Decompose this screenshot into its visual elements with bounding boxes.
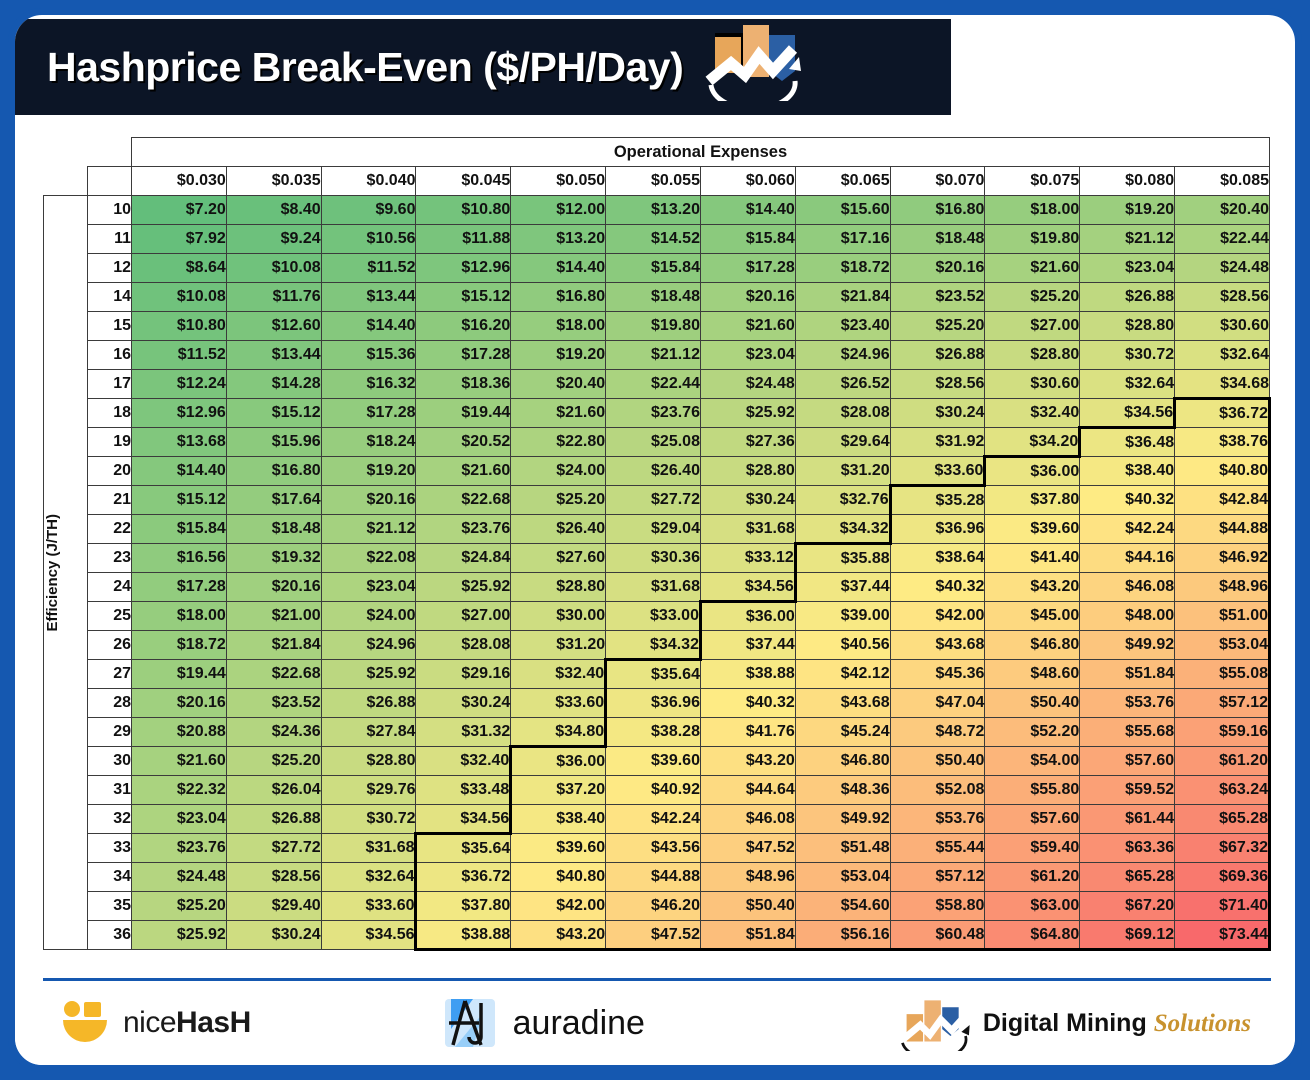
heatmap-cell: $34.80 xyxy=(511,718,606,747)
row-header-efficiency: 26 xyxy=(88,631,132,660)
heatmap-cell: $34.32 xyxy=(606,631,701,660)
heatmap-cell: $47.04 xyxy=(890,689,985,718)
heatmap-cell: $45.00 xyxy=(985,602,1080,631)
heatmap-cell: $23.04 xyxy=(321,573,416,602)
heatmap-cell: $32.40 xyxy=(985,399,1080,428)
heatmap-cell: $8.64 xyxy=(132,254,227,283)
table-row: 35$25.20$29.40$33.60$37.80$42.00$46.20$5… xyxy=(44,892,1270,921)
heatmap-cell: $52.08 xyxy=(890,776,985,805)
heatmap-cell: $71.40 xyxy=(1175,892,1270,921)
heatmap-cell: $54.60 xyxy=(795,892,890,921)
heatmap-cell: $30.60 xyxy=(985,370,1080,399)
heatmap-cell: $44.88 xyxy=(1175,515,1270,544)
heatmap-cell: $21.84 xyxy=(226,631,321,660)
heatmap-cell: $23.52 xyxy=(890,283,985,312)
heatmap-cell: $19.20 xyxy=(511,341,606,370)
heatmap-cell: $36.00 xyxy=(511,747,606,776)
heatmap-cell: $67.32 xyxy=(1175,834,1270,863)
heatmap-cell: $30.00 xyxy=(511,602,606,631)
heatmap-cell: $43.68 xyxy=(890,631,985,660)
heatmap-cell: $46.08 xyxy=(1080,573,1175,602)
heatmap-cell: $32.64 xyxy=(1175,341,1270,370)
title-bar: Hashprice Break-Even ($/PH/Day) xyxy=(8,19,951,115)
heatmap-cell: $31.68 xyxy=(321,834,416,863)
heatmap-cell: $25.92 xyxy=(416,573,511,602)
heatmap-cell: $56.16 xyxy=(795,921,890,950)
heatmap-cell: $24.96 xyxy=(795,341,890,370)
heatmap-cell: $48.60 xyxy=(985,660,1080,689)
heatmap-cell: $16.80 xyxy=(890,196,985,225)
heatmap-cell: $33.00 xyxy=(606,602,701,631)
heatmap-cell: $20.16 xyxy=(700,283,795,312)
heatmap-cell: $28.80 xyxy=(321,747,416,776)
heatmap-cell: $53.76 xyxy=(890,805,985,834)
heatmap-cell: $33.60 xyxy=(890,457,985,486)
nicehash-logo[interactable]: niceHasH xyxy=(59,1000,251,1046)
heatmap-cell: $28.56 xyxy=(1175,283,1270,312)
heatmap-cell: $36.96 xyxy=(890,515,985,544)
heatmap-cell: $20.16 xyxy=(132,689,227,718)
heatmap-cell: $18.48 xyxy=(606,283,701,312)
heatmap-cell: $43.20 xyxy=(985,573,1080,602)
heatmap-cell: $7.20 xyxy=(132,196,227,225)
row-header-efficiency: 20 xyxy=(88,457,132,486)
heatmap-cell: $21.60 xyxy=(132,747,227,776)
row-header-efficiency: 35 xyxy=(88,892,132,921)
heatmap-cell: $12.24 xyxy=(132,370,227,399)
heatmap-cell: $22.08 xyxy=(321,544,416,573)
heatmap-cell: $51.48 xyxy=(795,834,890,863)
heatmap-cell: $24.36 xyxy=(226,718,321,747)
heatmap-cell: $27.00 xyxy=(416,602,511,631)
row-header-efficiency: 25 xyxy=(88,602,132,631)
heatmap-cell: $31.68 xyxy=(606,573,701,602)
heatmap-cell: $26.88 xyxy=(226,805,321,834)
column-header-opex: $0.070 xyxy=(890,167,985,196)
table-row: 23$16.56$19.32$22.08$24.84$27.60$30.36$3… xyxy=(44,544,1270,573)
heatmap-cell: $21.12 xyxy=(321,515,416,544)
heatmap-cell: $11.88 xyxy=(416,225,511,254)
row-header-efficiency: 28 xyxy=(88,689,132,718)
heatmap-cell: $35.64 xyxy=(416,834,511,863)
heatmap-cell: $27.72 xyxy=(226,834,321,863)
row-header-efficiency: 33 xyxy=(88,834,132,863)
row-header-efficiency: 32 xyxy=(88,805,132,834)
heatmap-cell: $30.36 xyxy=(606,544,701,573)
heatmap-cell: $16.80 xyxy=(226,457,321,486)
table-row: 11$7.92$9.24$10.56$11.88$13.20$14.52$15.… xyxy=(44,225,1270,254)
heatmap-cell: $19.32 xyxy=(226,544,321,573)
heatmap-cell: $55.44 xyxy=(890,834,985,863)
heatmap-cell: $34.32 xyxy=(795,515,890,544)
heatmap-cell: $41.76 xyxy=(700,718,795,747)
heatmap-cell: $24.00 xyxy=(321,602,416,631)
heatmap-cell: $22.68 xyxy=(226,660,321,689)
heatmap-cell: $30.24 xyxy=(700,486,795,515)
column-header-opex: $0.040 xyxy=(321,167,416,196)
row-header-efficiency: 22 xyxy=(88,515,132,544)
heatmap-cell: $43.20 xyxy=(511,921,606,950)
efficiency-axis-label: Efficiency (J/TH) xyxy=(44,196,88,950)
heatmap-cell: $38.40 xyxy=(511,805,606,834)
row-header-efficiency: 27 xyxy=(88,660,132,689)
heatmap-cell: $48.96 xyxy=(700,863,795,892)
heatmap-cell: $12.60 xyxy=(226,312,321,341)
heatmap-cell: $25.20 xyxy=(890,312,985,341)
heatmap-cell: $60.48 xyxy=(890,921,985,950)
row-header-efficiency: 36 xyxy=(88,921,132,950)
heatmap-cell: $18.48 xyxy=(890,225,985,254)
heatmap-cell: $33.12 xyxy=(700,544,795,573)
heatmap-cell: $10.08 xyxy=(132,283,227,312)
heatmap-cell: $25.20 xyxy=(985,283,1080,312)
heatmap-cell: $38.28 xyxy=(606,718,701,747)
heatmap-cell: $36.00 xyxy=(985,457,1080,486)
heatmap-cell: $19.20 xyxy=(321,457,416,486)
heatmap-cell: $44.88 xyxy=(606,863,701,892)
column-header-opex: $0.065 xyxy=(795,167,890,196)
heatmap-cell: $36.00 xyxy=(700,602,795,631)
table-row: Efficiency (J/TH)10$7.20$8.40$9.60$10.80… xyxy=(44,196,1270,225)
heatmap-cell: $26.40 xyxy=(511,515,606,544)
heatmap-cell: $39.00 xyxy=(795,602,890,631)
heatmap-cell: $51.84 xyxy=(700,921,795,950)
row-header-efficiency: 14 xyxy=(88,283,132,312)
heatmap-cell: $32.76 xyxy=(795,486,890,515)
heatmap-cell: $22.44 xyxy=(606,370,701,399)
heatmap-cell: $15.96 xyxy=(226,428,321,457)
heatmap-cell: $59.16 xyxy=(1175,718,1270,747)
heatmap-cell: $21.12 xyxy=(606,341,701,370)
heatmap-cell: $42.00 xyxy=(511,892,606,921)
auradine-logo[interactable]: auradine xyxy=(443,997,645,1049)
heatmap-cell: $30.24 xyxy=(890,399,985,428)
heatmap-cell: $38.40 xyxy=(1080,457,1175,486)
heatmap-cell: $23.76 xyxy=(416,515,511,544)
heatmap-cell: $16.56 xyxy=(132,544,227,573)
heatmap-cell: $17.28 xyxy=(132,573,227,602)
heatmap-cell: $12.00 xyxy=(511,196,606,225)
heatmap-cell: $26.88 xyxy=(1080,283,1175,312)
heatmap-cell: $10.08 xyxy=(226,254,321,283)
heatmap-cell: $14.40 xyxy=(700,196,795,225)
heatmap-cell: $14.40 xyxy=(132,457,227,486)
table-row: 18$12.96$15.12$17.28$19.44$21.60$23.76$2… xyxy=(44,399,1270,428)
heatmap-cell: $44.16 xyxy=(1080,544,1175,573)
heatmap-cell: $23.76 xyxy=(132,834,227,863)
column-header-opex: $0.080 xyxy=(1080,167,1175,196)
heatmap-cell: $38.64 xyxy=(890,544,985,573)
heatmap-cell: $21.12 xyxy=(1080,225,1175,254)
heatmap-cell: $30.24 xyxy=(416,689,511,718)
table-row: 32$23.04$26.88$30.72$34.56$38.40$42.24$4… xyxy=(44,805,1270,834)
heatmap-cell: $25.92 xyxy=(132,921,227,950)
table-row: 33$23.76$27.72$31.68$35.64$39.60$43.56$4… xyxy=(44,834,1270,863)
heatmap-cell: $25.20 xyxy=(132,892,227,921)
heatmap-cell: $61.20 xyxy=(1175,747,1270,776)
heatmap-cell: $50.40 xyxy=(985,689,1080,718)
heatmap-cell: $51.00 xyxy=(1175,602,1270,631)
heatmap-cell: $30.72 xyxy=(1080,341,1175,370)
heatmap-cell: $28.08 xyxy=(416,631,511,660)
heatmap-cell: $27.72 xyxy=(606,486,701,515)
column-header-opex: $0.035 xyxy=(226,167,321,196)
heatmap-cell: $27.00 xyxy=(985,312,1080,341)
heatmap-cell: $12.96 xyxy=(416,254,511,283)
table-row: 20$14.40$16.80$19.20$21.60$24.00$26.40$2… xyxy=(44,457,1270,486)
heatmap-cell: $45.24 xyxy=(795,718,890,747)
table-row: 24$17.28$20.16$23.04$25.92$28.80$31.68$3… xyxy=(44,573,1270,602)
heatmap-cell: $40.92 xyxy=(606,776,701,805)
heatmap-cell: $26.52 xyxy=(795,370,890,399)
table-row: 16$11.52$13.44$15.36$17.28$19.20$21.12$2… xyxy=(44,341,1270,370)
heatmap-cell: $46.80 xyxy=(985,631,1080,660)
heatmap-cell: $14.28 xyxy=(226,370,321,399)
column-header-opex: $0.075 xyxy=(985,167,1080,196)
heatmap-cell: $63.24 xyxy=(1175,776,1270,805)
heatmap-cell: $16.20 xyxy=(416,312,511,341)
heatmap-cell: $40.56 xyxy=(795,631,890,660)
heatmap-cell: $64.80 xyxy=(985,921,1080,950)
heatmap-cell: $22.80 xyxy=(511,428,606,457)
heatmap-cell: $15.84 xyxy=(132,515,227,544)
heatmap-cell: $14.40 xyxy=(321,312,416,341)
heatmap-cell: $57.60 xyxy=(1080,747,1175,776)
heatmap-cell: $14.40 xyxy=(511,254,606,283)
heatmap-cell: $63.00 xyxy=(985,892,1080,921)
heatmap-cell: $29.04 xyxy=(606,515,701,544)
heatmap-cell: $26.88 xyxy=(321,689,416,718)
heatmap-cell: $37.80 xyxy=(416,892,511,921)
heatmap-cell: $50.40 xyxy=(700,892,795,921)
heatmap-cell: $47.52 xyxy=(700,834,795,863)
heatmap-cell: $57.60 xyxy=(985,805,1080,834)
heatmap-cell: $13.20 xyxy=(511,225,606,254)
heatmap-cell: $19.44 xyxy=(132,660,227,689)
heatmap-cell: $18.00 xyxy=(132,602,227,631)
heatmap-cell: $48.96 xyxy=(1175,573,1270,602)
heatmap-cell: $53.76 xyxy=(1080,689,1175,718)
heatmap-cell: $61.44 xyxy=(1080,805,1175,834)
heatmap-cell: $33.60 xyxy=(511,689,606,718)
heatmap-cell: $46.92 xyxy=(1175,544,1270,573)
heatmap-cell: $20.16 xyxy=(321,486,416,515)
table-row: 26$18.72$21.84$24.96$28.08$31.20$34.32$3… xyxy=(44,631,1270,660)
heatmap-cell: $18.72 xyxy=(132,631,227,660)
heatmap-cell: $32.40 xyxy=(416,747,511,776)
heatmap-cell: $17.28 xyxy=(321,399,416,428)
heatmap-cell: $65.28 xyxy=(1175,805,1270,834)
row-header-efficiency: 10 xyxy=(88,196,132,225)
heatmap-cell: $29.76 xyxy=(321,776,416,805)
heatmap-cell: $15.12 xyxy=(132,486,227,515)
heatmap-cell: $59.52 xyxy=(1080,776,1175,805)
footer-logo-bar: niceHasH auradine xyxy=(15,981,1295,1065)
heatmap-cell: $49.92 xyxy=(795,805,890,834)
heatmap-cell: $34.56 xyxy=(700,573,795,602)
heatmap-cell: $25.20 xyxy=(511,486,606,515)
heatmap-cell: $28.80 xyxy=(985,341,1080,370)
heatmap-cell: $21.60 xyxy=(511,399,606,428)
heatmap-cell: $20.16 xyxy=(226,573,321,602)
row-header-efficiency: 16 xyxy=(88,341,132,370)
heatmap-cell: $42.84 xyxy=(1175,486,1270,515)
column-header-opex: $0.030 xyxy=(132,167,227,196)
heatmap-cell: $43.56 xyxy=(606,834,701,863)
dms-wordmark: Digital MiningSolutions xyxy=(983,1009,1251,1038)
heatmap-cell: $25.20 xyxy=(226,747,321,776)
row-header-efficiency: 12 xyxy=(88,254,132,283)
heatmap-cell: $37.20 xyxy=(511,776,606,805)
heatmap-cell: $42.24 xyxy=(606,805,701,834)
heatmap-cell: $22.32 xyxy=(132,776,227,805)
heatmap-cell: $40.32 xyxy=(700,689,795,718)
column-header-opex: $0.045 xyxy=(416,167,511,196)
heatmap-cell: $27.36 xyxy=(700,428,795,457)
heatmap-cell: $52.20 xyxy=(985,718,1080,747)
heatmap-cell: $28.80 xyxy=(511,573,606,602)
heatmap-cell: $10.80 xyxy=(416,196,511,225)
table-row: 21$15.12$17.64$20.16$22.68$25.20$27.72$3… xyxy=(44,486,1270,515)
heatmap-cell: $39.60 xyxy=(606,747,701,776)
table-row: 29$20.88$24.36$27.84$31.32$34.80$38.28$4… xyxy=(44,718,1270,747)
heatmap-cell: $34.56 xyxy=(321,921,416,950)
heatmap-cell: $26.88 xyxy=(890,341,985,370)
heatmap-cell: $17.64 xyxy=(226,486,321,515)
heatmap-cell: $23.40 xyxy=(795,312,890,341)
row-header-efficiency: 21 xyxy=(88,486,132,515)
heatmap-cell: $55.08 xyxy=(1175,660,1270,689)
heatmap-cell: $20.40 xyxy=(511,370,606,399)
table-row: 15$10.80$12.60$14.40$16.20$18.00$19.80$2… xyxy=(44,312,1270,341)
heatmap-cell: $46.20 xyxy=(606,892,701,921)
table-row: 36$25.92$30.24$34.56$38.88$43.20$47.52$5… xyxy=(44,921,1270,950)
heatmap-cell: $19.44 xyxy=(416,399,511,428)
table-row: 17$12.24$14.28$16.32$18.36$20.40$22.44$2… xyxy=(44,370,1270,399)
column-header-opex: $0.060 xyxy=(700,167,795,196)
heatmap-cell: $30.72 xyxy=(321,805,416,834)
heatmap-cell: $20.40 xyxy=(1175,196,1270,225)
heatmap-cell: $13.20 xyxy=(606,196,701,225)
column-header-opex: $0.085 xyxy=(1175,167,1270,196)
heatmap-cell: $27.84 xyxy=(321,718,416,747)
auradine-mark-icon xyxy=(443,997,499,1049)
heatmap-cell: $31.20 xyxy=(511,631,606,660)
digital-mining-solutions-logo[interactable]: Digital MiningSolutions xyxy=(897,995,1251,1051)
heatmap-cell: $18.24 xyxy=(321,428,416,457)
heatmap-cell: $43.20 xyxy=(700,747,795,776)
heatmap-cell: $28.80 xyxy=(700,457,795,486)
heatmap-cell: $33.60 xyxy=(321,892,416,921)
heatmap-cell: $47.52 xyxy=(606,921,701,950)
row-header-efficiency: 29 xyxy=(88,718,132,747)
row-header-efficiency: 11 xyxy=(88,225,132,254)
table-row: 12$8.64$10.08$11.52$12.96$14.40$15.84$17… xyxy=(44,254,1270,283)
table-row: 28$20.16$23.52$26.88$30.24$33.60$36.96$4… xyxy=(44,689,1270,718)
heatmap-cell: $57.12 xyxy=(890,863,985,892)
heatmap-cell: $17.28 xyxy=(700,254,795,283)
heatmap-cell: $43.68 xyxy=(795,689,890,718)
heatmap-cell: $34.68 xyxy=(1175,370,1270,399)
opex-group-label: Operational Expenses xyxy=(132,138,1270,167)
heatmap-cell: $32.64 xyxy=(1080,370,1175,399)
heatmap-cell: $24.84 xyxy=(416,544,511,573)
heatmap-cell: $16.32 xyxy=(321,370,416,399)
heatmap-cell: $39.60 xyxy=(511,834,606,863)
heatmap-cell: $23.04 xyxy=(700,341,795,370)
group-header-row: Operational Expenses xyxy=(44,138,1270,167)
heatmap-cell: $29.16 xyxy=(416,660,511,689)
heatmap-cell: $65.28 xyxy=(1080,863,1175,892)
heatmap-cell: $25.92 xyxy=(700,399,795,428)
heatmap-cell: $34.56 xyxy=(416,805,511,834)
heatmap-cell: $31.92 xyxy=(890,428,985,457)
heatmap-cell: $26.04 xyxy=(226,776,321,805)
heatmap-cell: $24.48 xyxy=(700,370,795,399)
heatmap-cell: $19.80 xyxy=(985,225,1080,254)
heatmap-cell: $46.80 xyxy=(795,747,890,776)
heatmap-cell: $7.92 xyxy=(132,225,227,254)
heatmap-cell: $38.88 xyxy=(700,660,795,689)
heatmap-cell: $36.48 xyxy=(1080,428,1175,457)
heatmap-cell: $46.08 xyxy=(700,805,795,834)
table-row: 25$18.00$21.00$24.00$27.00$30.00$33.00$3… xyxy=(44,602,1270,631)
page-title: Hashprice Break-Even ($/PH/Day) xyxy=(47,44,683,91)
heatmap-cell: $28.56 xyxy=(226,863,321,892)
heatmap-cell: $24.96 xyxy=(321,631,416,660)
row-header-efficiency: 30 xyxy=(88,747,132,776)
heatmap-cell: $9.24 xyxy=(226,225,321,254)
heatmap-cell: $18.36 xyxy=(416,370,511,399)
heatmap-cell: $15.12 xyxy=(416,283,511,312)
heatmap-cell: $19.80 xyxy=(606,312,701,341)
heatmap-cell: $57.12 xyxy=(1175,689,1270,718)
heatmap-cell: $36.96 xyxy=(606,689,701,718)
heatmap-cell: $18.72 xyxy=(795,254,890,283)
heatmap-cell: $15.36 xyxy=(321,341,416,370)
heatmap-cell: $53.04 xyxy=(1175,631,1270,660)
table-row: 14$10.08$11.76$13.44$15.12$16.80$18.48$2… xyxy=(44,283,1270,312)
slide-frame: Hashprice Break-Even ($/PH/Day) Operatio… xyxy=(8,8,1302,1072)
heatmap-cell: $69.12 xyxy=(1080,921,1175,950)
heatmap-cell: $28.80 xyxy=(1080,312,1175,341)
heatmap-cell: $31.20 xyxy=(795,457,890,486)
heatmap-cell: $21.60 xyxy=(985,254,1080,283)
heatmap-cell: $63.36 xyxy=(1080,834,1175,863)
heatmap-cell: $24.48 xyxy=(132,863,227,892)
heatmap-cell: $36.72 xyxy=(416,863,511,892)
heatmap-cell: $42.24 xyxy=(1080,515,1175,544)
heatmap-cell: $44.64 xyxy=(700,776,795,805)
heatmap-cell: $49.92 xyxy=(1080,631,1175,660)
heatmap-cell: $45.36 xyxy=(890,660,985,689)
heatmap-cell: $22.68 xyxy=(416,486,511,515)
heatmap-cell: $33.48 xyxy=(416,776,511,805)
heatmap-cell: $23.76 xyxy=(606,399,701,428)
heatmap-cell: $29.64 xyxy=(795,428,890,457)
heatmap-cell: $23.52 xyxy=(226,689,321,718)
heatmap-cell: $58.80 xyxy=(890,892,985,921)
heatmap-cell: $51.84 xyxy=(1080,660,1175,689)
heatmap-cell: $21.84 xyxy=(795,283,890,312)
table-row: 34$24.48$28.56$32.64$36.72$40.80$44.88$4… xyxy=(44,863,1270,892)
heatmap-cell: $21.60 xyxy=(416,457,511,486)
heatmap-cell: $27.60 xyxy=(511,544,606,573)
heatmap-cell: $18.48 xyxy=(226,515,321,544)
heatmap-cell: $61.20 xyxy=(985,863,1080,892)
heatmap-cell: $69.36 xyxy=(1175,863,1270,892)
heatmap-cell: $25.92 xyxy=(321,660,416,689)
